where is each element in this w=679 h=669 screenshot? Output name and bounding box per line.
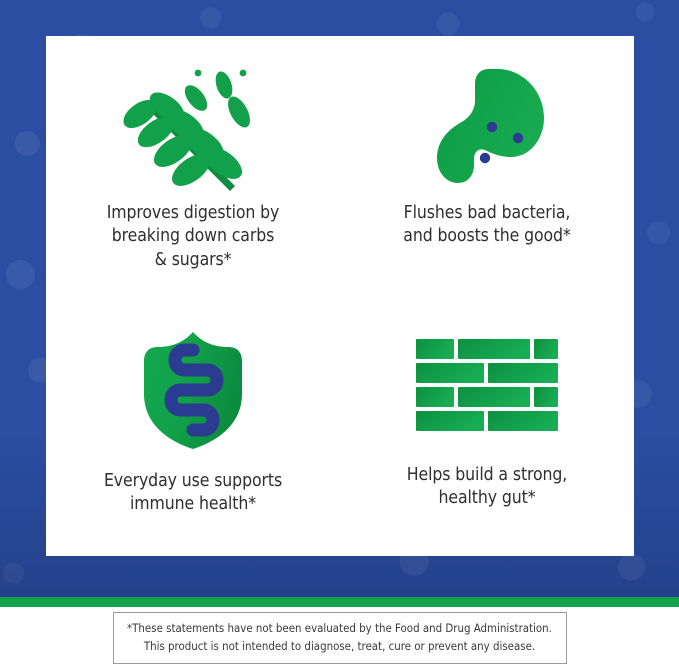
benefit-caption: Everyday use supports immune health* <box>104 470 282 517</box>
benefit-item-digestion: Improves digestion by breaking down carb… <box>46 36 340 296</box>
disclaimer-line-1: *These statements have not been evaluate… <box>126 620 554 638</box>
footer-area: *These statements have not been evaluate… <box>0 607 679 669</box>
bacteria-dot <box>480 153 490 163</box>
bacteria-dot <box>513 133 523 143</box>
benefit-item-immune: Everyday use supports immune health* <box>46 296 340 556</box>
benefits-card: Improves digestion by breaking down carb… <box>46 36 634 556</box>
caption-line: Flushes bad bacteria, <box>403 202 570 225</box>
caption-line: healthy gut* <box>407 487 567 510</box>
green-divider-stripe <box>0 597 679 607</box>
benefits-grid: Improves digestion by breaking down carb… <box>46 36 634 556</box>
disclaimer-box: *These statements have not been evaluate… <box>113 612 567 664</box>
caption-line: and boosts the good* <box>403 225 570 248</box>
caption-line: immune health* <box>104 493 282 516</box>
wheat-leaf-branch-icon <box>117 62 269 194</box>
caption-line: breaking down carbs <box>107 225 280 248</box>
infographic-root: Improves digestion by breaking down carb… <box>0 0 679 669</box>
bacteria-dot <box>487 122 497 132</box>
benefit-caption: Flushes bad bacteria, and boosts the goo… <box>403 202 570 249</box>
brick-wall-icon <box>414 324 560 450</box>
shield-intestine-icon <box>135 324 251 456</box>
caption-line: Helps build a strong, <box>407 464 567 487</box>
stomach-icon <box>425 62 549 194</box>
benefit-item-gut: Helps build a strong, healthy gut* <box>340 296 634 556</box>
benefit-item-bacteria: Flushes bad bacteria, and boosts the goo… <box>340 36 634 296</box>
caption-line: Improves digestion by <box>107 202 280 225</box>
disclaimer-line-2: This product is not intended to diagnose… <box>126 638 554 656</box>
benefit-caption: Improves digestion by breaking down carb… <box>107 202 280 272</box>
caption-line: & sugars* <box>107 249 280 272</box>
benefit-caption: Helps build a strong, healthy gut* <box>407 464 567 511</box>
caption-line: Everyday use supports <box>104 470 282 493</box>
